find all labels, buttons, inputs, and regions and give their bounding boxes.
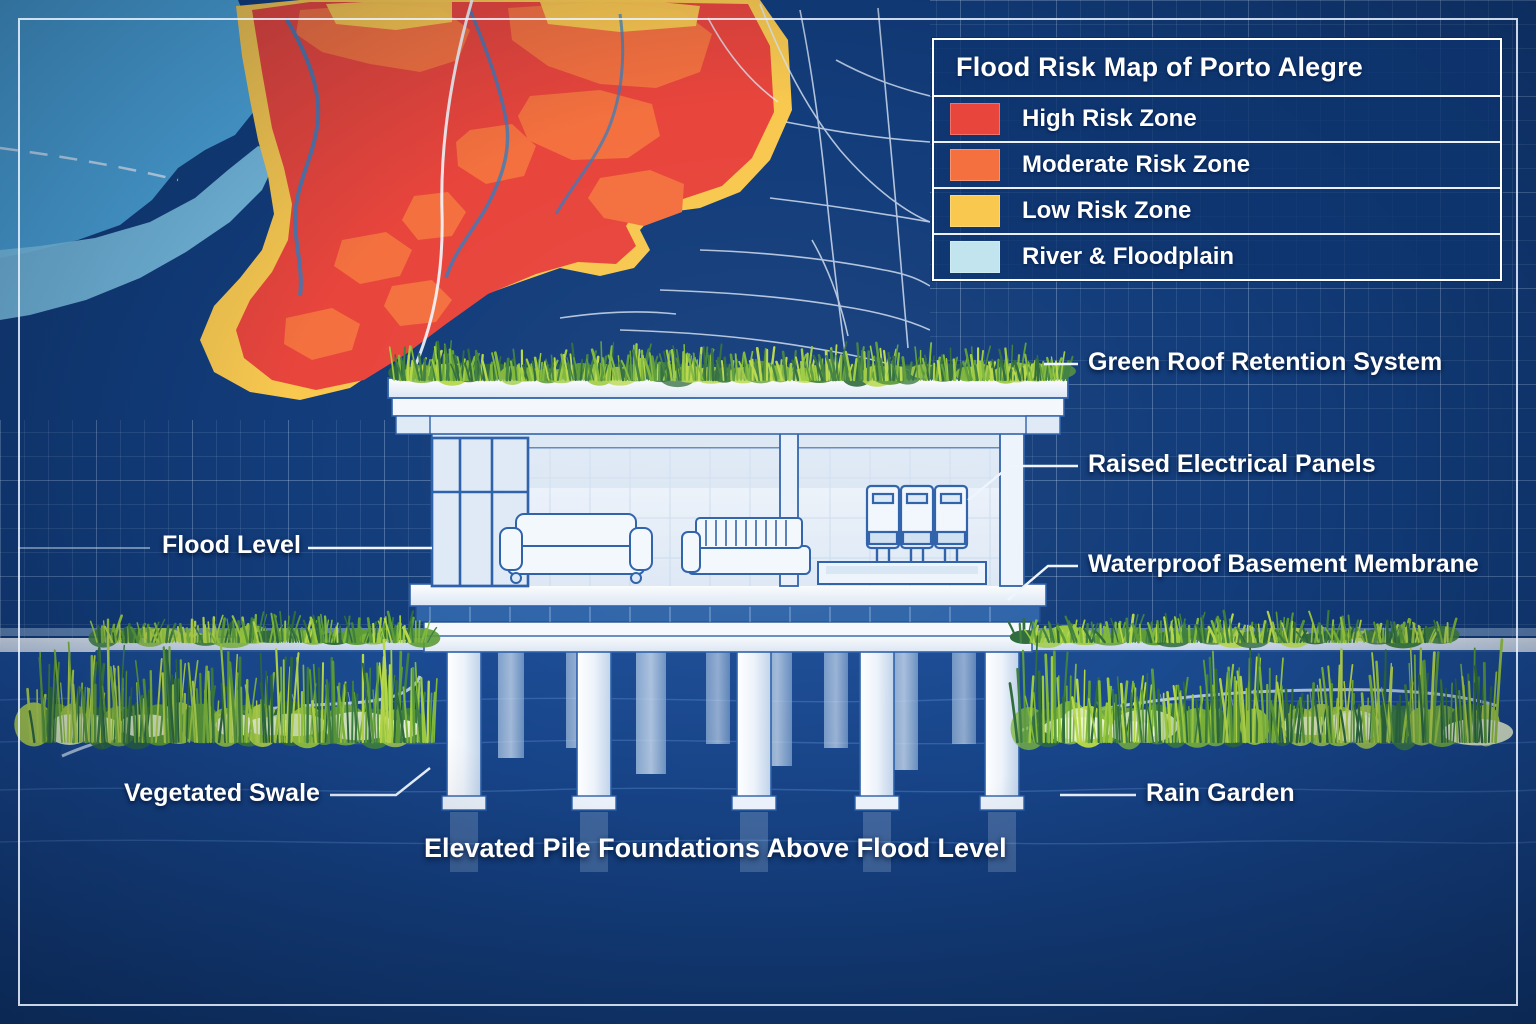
- interior-bench: [682, 518, 810, 574]
- map-legend-panel[interactable]: Flood Risk Map of Porto Alegre High Risk…: [932, 38, 1502, 281]
- annotation-raised-electrical-panels: Raised Electrical Panels: [1088, 450, 1376, 479]
- legend-swatch-high-risk: [950, 103, 1000, 135]
- annotation-flood-level: Flood Level: [162, 531, 301, 560]
- annotation-waterproof-membrane: Waterproof Basement Membrane: [1088, 550, 1479, 579]
- annotation-rain-garden: Rain Garden: [1146, 779, 1295, 808]
- green-roof-vegetation: [388, 341, 1076, 387]
- pile-cap-beam: [424, 634, 1032, 652]
- interior-sofa: [500, 514, 652, 583]
- blueprint-canvas: Flood Risk Map of Porto Alegre High Risk…: [0, 0, 1536, 1024]
- legend-label-high-risk: High Risk Zone: [1022, 105, 1197, 133]
- annotation-green-roof: Green Roof Retention System: [1088, 348, 1442, 377]
- legend-item-high-risk[interactable]: High Risk Zone: [934, 97, 1500, 143]
- legend-item-low-risk[interactable]: Low Risk Zone: [934, 189, 1500, 235]
- diagram-caption: Elevated Pile Foundations Above Flood Le…: [424, 833, 1007, 864]
- floor-slab: [410, 584, 1046, 606]
- legend-swatch-moderate-risk: [950, 149, 1000, 181]
- legend-item-river-floodplain[interactable]: River & Floodplain: [934, 235, 1500, 279]
- legend-label-moderate-risk: Moderate Risk Zone: [1022, 151, 1250, 179]
- roof-structure: [388, 378, 1068, 434]
- legend-swatch-low-risk: [950, 195, 1000, 227]
- annotation-vegetated-swale: Vegetated Swale: [124, 779, 320, 808]
- legend-label-low-risk: Low Risk Zone: [1022, 197, 1191, 225]
- legend-label-river-floodplain: River & Floodplain: [1022, 243, 1234, 271]
- legend-item-moderate-risk[interactable]: Moderate Risk Zone: [934, 143, 1500, 189]
- legend-title: Flood Risk Map of Porto Alegre: [934, 40, 1500, 97]
- raised-equipment-shelf: [818, 562, 986, 584]
- rain-garden-planting: [1009, 611, 1514, 750]
- legend-swatch-river-floodplain: [950, 241, 1000, 273]
